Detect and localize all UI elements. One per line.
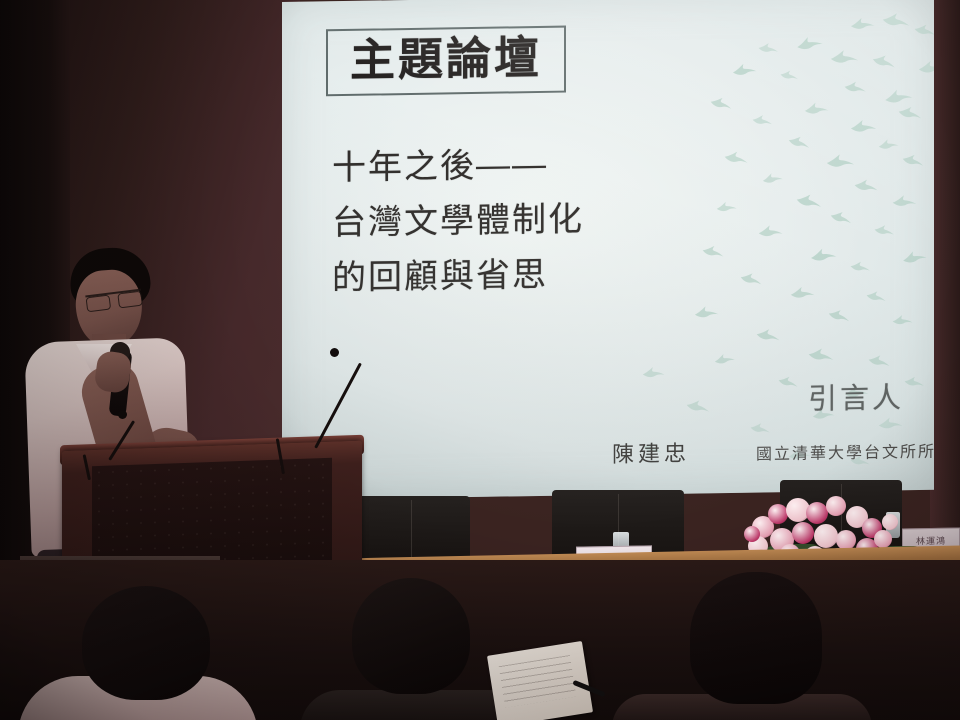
slide-title-box: 主題論壇 <box>326 26 566 97</box>
subtitle-line-2: 台灣文學體制化 <box>332 192 584 251</box>
speaker-name: 陳建忠 <box>612 435 724 469</box>
wall-right <box>930 0 960 560</box>
projection-screen: 主題論壇 十年之後―― 台灣文學體制化 的回顧與省思 引言人 陳建忠 國立清華大… <box>282 0 934 500</box>
audience-person-head <box>82 586 210 700</box>
slide-subtitle: 十年之後―― 台灣文學體制化 的回顧與省思 <box>332 137 584 306</box>
flower-bloom <box>814 524 838 548</box>
flower-bloom <box>744 526 760 542</box>
flower-bloom <box>806 502 828 524</box>
flower-bloom <box>792 522 814 544</box>
slide-role-label: 引言人 <box>808 374 904 418</box>
subtitle-line-3: 的回顧與省思 <box>332 247 584 306</box>
microphone-head <box>330 348 339 357</box>
flower-bloom <box>882 514 898 530</box>
flower-bloom <box>826 496 846 516</box>
slide-content: 主題論壇 十年之後―― 台灣文學體制化 的回顧與省思 引言人 陳建忠 國立清華大… <box>282 0 934 500</box>
presentation-photo-scene: 主題論壇 十年之後―― 台灣文學體制化 的回顧與省思 引言人 陳建忠 國立清華大… <box>0 0 960 720</box>
flower-bloom <box>874 530 892 548</box>
subtitle-line-1: 十年之後―― <box>332 137 584 196</box>
slide-title: 主題論壇 <box>350 34 542 84</box>
audience-person-head <box>690 572 822 704</box>
speaker-affiliation: 國立清華大學台文所所長 <box>756 437 934 464</box>
speaker-entry: 陳建忠 國立清華大學台文所所長 <box>612 427 934 469</box>
flower-bloom <box>768 504 788 524</box>
microphone-head <box>118 410 127 419</box>
audience-person-head <box>352 578 470 694</box>
